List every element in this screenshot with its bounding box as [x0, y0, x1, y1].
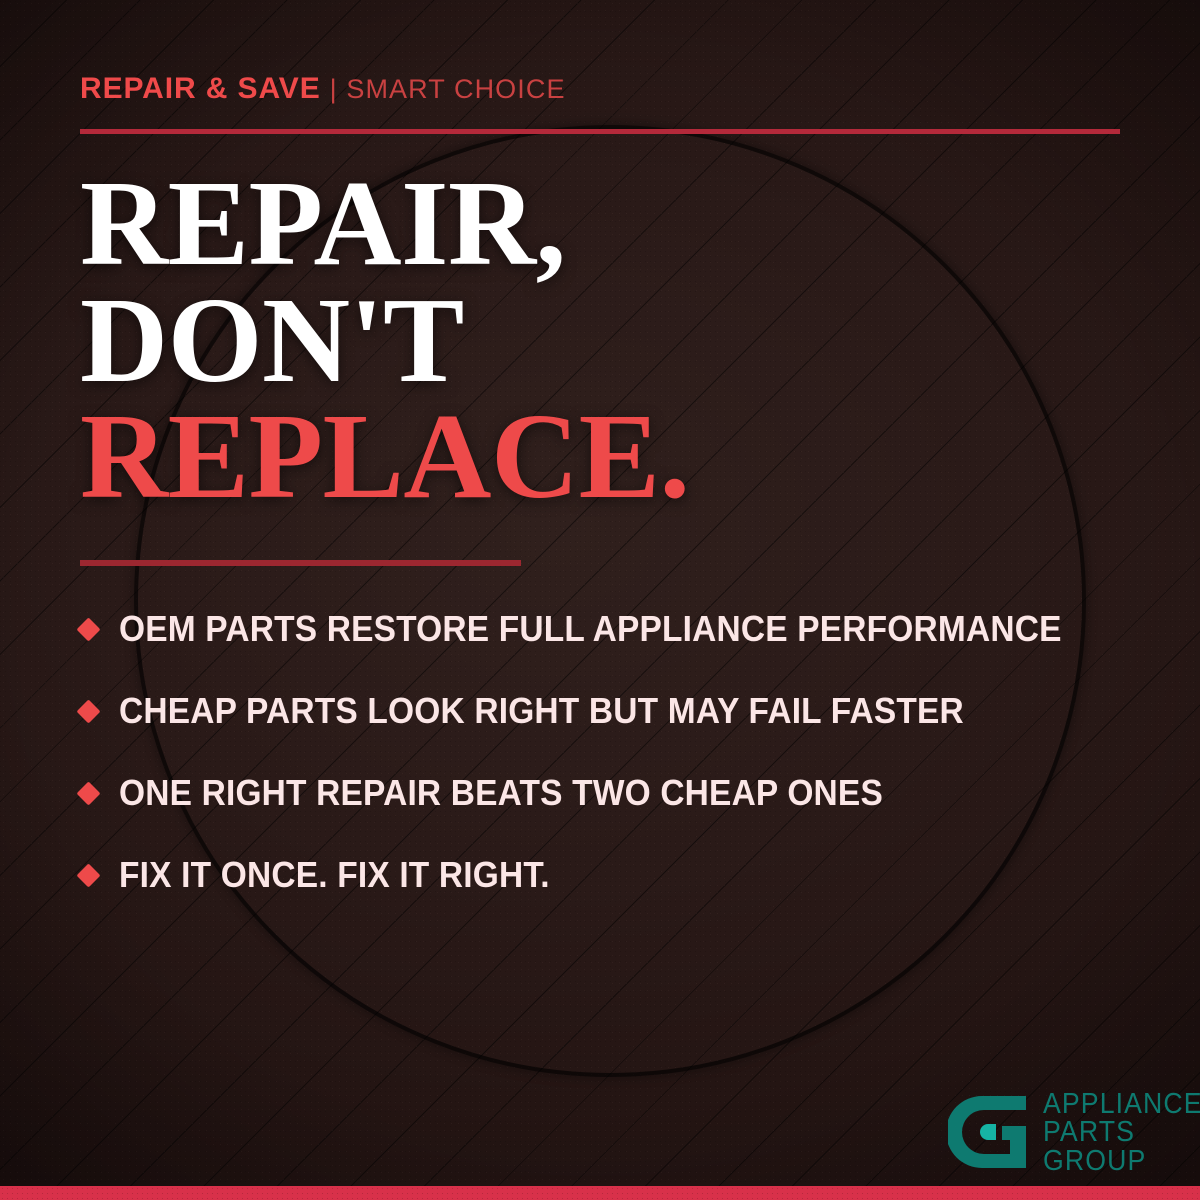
- list-item: CHEAP PARTS LOOK RIGHT BUT MAY FAIL FAST…: [80, 670, 1140, 752]
- brand-logo-wordmark: APPLIANCE PARTS GROUP: [1043, 1090, 1200, 1175]
- headline-line-3-accent: REPLACE.: [80, 399, 689, 516]
- eyebrow-secondary-label: | SMART CHOICE: [330, 74, 566, 104]
- brand-logo: APPLIANCE PARTS GROUP: [948, 1092, 1200, 1175]
- list-item: OEM PARTS RESTORE FULL APPLIANCE PERFORM…: [80, 588, 1140, 670]
- diamond-bullet-icon: [76, 781, 100, 805]
- diamond-bullet-icon: [76, 617, 100, 641]
- page-title: REPAIR, DON'T REPLACE.: [80, 166, 689, 516]
- eyebrow-primary-label: REPAIR & SAVE: [80, 72, 321, 105]
- headline-line-2: DON'T: [80, 283, 689, 400]
- list-item: FIX IT ONCE. FIX IT RIGHT.: [80, 834, 1140, 916]
- list-item-label: FIX IT ONCE. FIX IT RIGHT.: [119, 854, 550, 896]
- g-monogram-icon: [948, 1092, 1030, 1172]
- eyebrow-rule: [80, 129, 1120, 134]
- poster-canvas: REPAIR & SAVE| SMART CHOICE REPAIR, DON'…: [0, 0, 1200, 1200]
- benefit-list: OEM PARTS RESTORE FULL APPLIANCE PERFORM…: [80, 588, 1140, 916]
- brand-logo-line-3: GROUP: [1043, 1147, 1200, 1175]
- brand-logo-line-2: PARTS: [1043, 1118, 1200, 1146]
- bottom-accent-bar: [0, 1186, 1200, 1200]
- list-item-label: ONE RIGHT REPAIR BEATS TWO CHEAP ONES: [119, 772, 883, 814]
- poster-content: REPAIR & SAVE| SMART CHOICE REPAIR, DON'…: [0, 0, 1200, 1200]
- list-item-label: CHEAP PARTS LOOK RIGHT BUT MAY FAIL FAST…: [119, 690, 964, 732]
- brand-logo-line-1: APPLIANCE: [1043, 1090, 1200, 1118]
- list-item: ONE RIGHT REPAIR BEATS TWO CHEAP ONES: [80, 752, 1140, 834]
- bottom-accent-bar-texture: [0, 1186, 1200, 1200]
- diamond-bullet-icon: [76, 863, 100, 887]
- headline-divider: [80, 560, 521, 566]
- headline-line-1: REPAIR,: [80, 166, 689, 283]
- diamond-bullet-icon: [76, 699, 100, 723]
- eyebrow: REPAIR & SAVE| SMART CHOICE: [80, 74, 566, 104]
- list-item-label: OEM PARTS RESTORE FULL APPLIANCE PERFORM…: [119, 608, 1062, 650]
